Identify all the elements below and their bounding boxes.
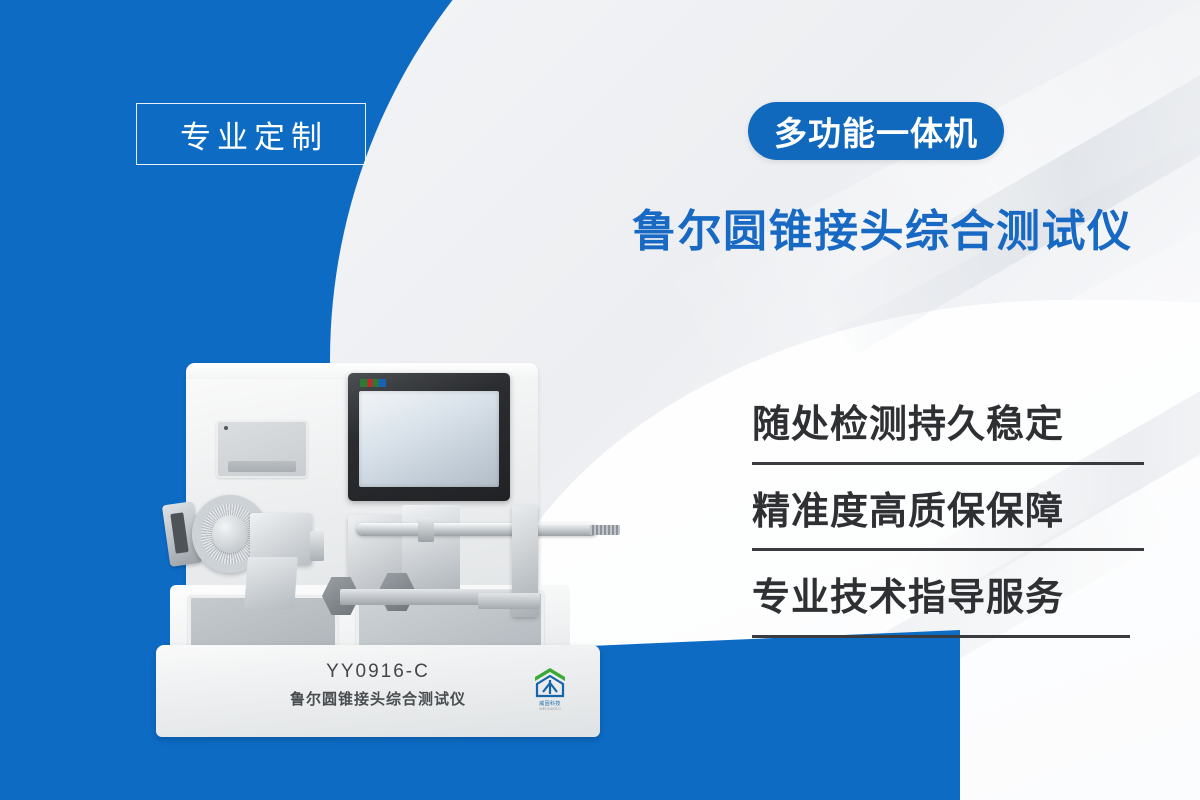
fixture-dial-hub <box>212 515 248 553</box>
machine-base: YY0916-C 鲁尔圆锥接头综合测试仪 威固科技 WEIGUKEJI <box>156 645 600 737</box>
fixture-test-shaft <box>356 523 598 536</box>
fixture-post <box>310 531 324 561</box>
fixture-bracket-foot <box>478 593 540 609</box>
feature-item: 专业技术指导服务 <box>752 577 1144 638</box>
machine-access-plate <box>216 420 308 478</box>
brand-logo-url: WEIGUKEJI <box>528 707 572 711</box>
feature-divider <box>752 548 1144 551</box>
hmi-screen-surface[interactable] <box>359 391 499 487</box>
feature-label: 精准度高质保保障 <box>752 491 1144 534</box>
multifunction-pill-label: 多功能一体机 <box>774 107 978 155</box>
banner-stage: 专业定制 多功能一体机 鲁尔圆锥接头综合测试仪 随处检测持久稳定 精准度高质保保… <box>0 0 1200 800</box>
feature-item: 随处检测持久稳定 <box>752 404 1144 465</box>
fixture-pedestal <box>244 557 298 609</box>
fixture-shaft-collar <box>418 517 434 542</box>
feature-divider <box>752 635 1130 638</box>
brand-logo-icon <box>533 667 567 699</box>
feature-list: 随处检测持久稳定 精准度高质保保障 专业技术指导服务 <box>752 404 1144 638</box>
custom-made-badge: 专业定制 <box>136 103 366 165</box>
feature-label: 专业技术指导服务 <box>752 577 1144 620</box>
product-photo: YY0916-C 鲁尔圆锥接头综合测试仪 威固科技 WEIGUKEJI <box>150 345 670 765</box>
feature-item: 精准度高质保保障 <box>752 491 1144 552</box>
fixture-shaft-tip <box>590 525 620 535</box>
page-title: 鲁尔圆锥接头综合测试仪 <box>632 195 1192 259</box>
machine-plate-screw <box>224 426 228 430</box>
multifunction-pill-badge: 多功能一体机 <box>748 102 1004 160</box>
hmi-touchscreen[interactable] <box>348 373 510 501</box>
brand-logo: 威固科技 WEIGUKEJI <box>528 667 572 715</box>
custom-made-badge-label: 专业定制 <box>174 112 328 157</box>
feature-label: 随处检测持久稳定 <box>752 404 1144 447</box>
feature-divider <box>752 462 1144 465</box>
hmi-brand-logo-icon <box>360 379 386 387</box>
